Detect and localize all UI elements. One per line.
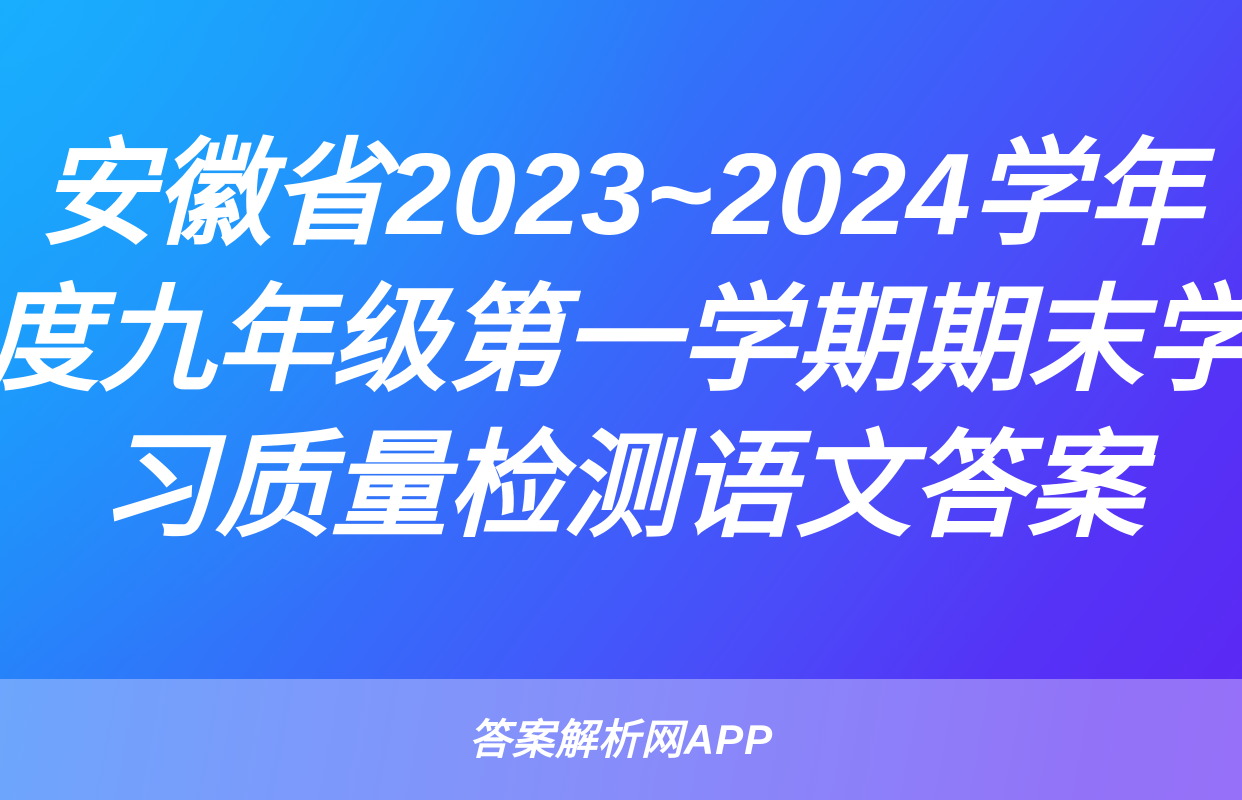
poster-title-block: 安徽省2023~2024学年 度九年级第一学期期末学 习质量检测语文答案: [0, 0, 1242, 679]
title-line-2: 度九年级第一学期期末学: [0, 267, 1242, 413]
poster-canvas: 安徽省2023~2024学年 度九年级第一学期期末学 习质量检测语文答案 答案解…: [0, 0, 1242, 800]
app-brand-label: 答案解析网APP: [469, 716, 773, 764]
title-line-1: 安徽省2023~2024学年: [39, 121, 1203, 267]
title-line-3: 习质量检测语文答案: [99, 413, 1143, 559]
footer-band: 答案解析网APP: [0, 679, 1242, 800]
